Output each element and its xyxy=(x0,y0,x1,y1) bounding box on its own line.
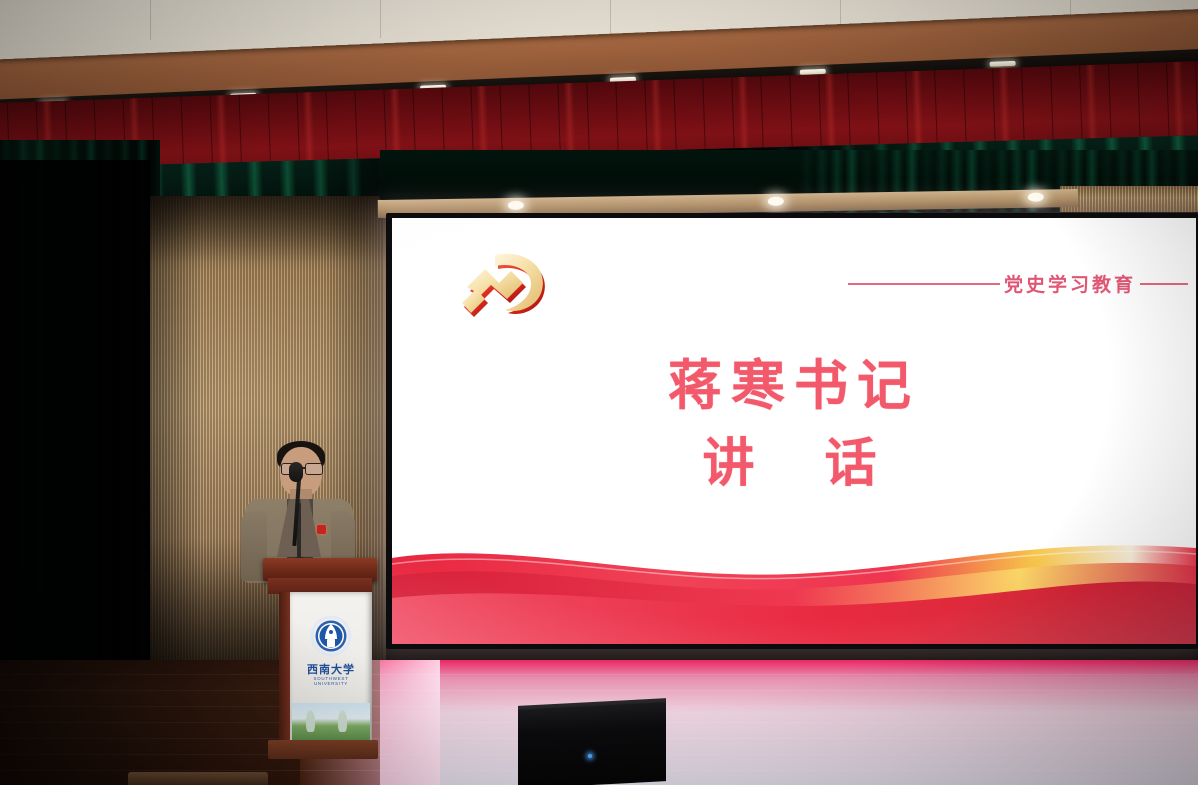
wall-slat xyxy=(1174,186,1176,212)
wall-slat xyxy=(1162,186,1164,212)
trim-spotlight xyxy=(1028,193,1044,202)
wall-slat xyxy=(1168,186,1170,212)
slide-header: 党史学习教育 xyxy=(848,270,1188,297)
wall-slat xyxy=(1126,186,1128,212)
wall-slat xyxy=(1093,186,1095,212)
slide-title-line-2: 讲 话 xyxy=(392,434,1196,495)
wall-slat xyxy=(1159,186,1161,212)
wall-slat xyxy=(1138,186,1140,212)
wall-slat xyxy=(1099,186,1101,212)
wall-slat xyxy=(1186,186,1188,212)
trim-spotlight xyxy=(508,201,524,210)
wall-slat xyxy=(1111,186,1113,212)
wall-slat xyxy=(1129,186,1131,212)
red-ribbon-wave xyxy=(392,514,1196,644)
wall-slat xyxy=(1195,186,1197,212)
wall-slat xyxy=(1081,186,1083,212)
track-lamp xyxy=(990,61,1016,67)
wall-slat xyxy=(1141,186,1143,212)
ceiling-seam xyxy=(150,0,151,40)
wall-slat xyxy=(1114,186,1116,212)
wall-slat xyxy=(1177,186,1179,212)
ceiling-seam xyxy=(380,0,381,38)
lectern-en-name: SOUTHWEST UNIVERSITY xyxy=(296,676,366,686)
wall-slat xyxy=(1123,186,1125,212)
floor-shadow-left xyxy=(0,660,300,785)
wall-slat xyxy=(1132,186,1134,212)
right-wood-trim xyxy=(1060,186,1198,212)
wall-slat xyxy=(1150,186,1152,212)
stage-shadow-area xyxy=(0,160,150,660)
header-rule-right xyxy=(1140,283,1188,285)
header-label: 党史学习教育 xyxy=(1000,270,1140,297)
wall-slat xyxy=(1192,186,1194,212)
wall-slat xyxy=(1102,186,1104,212)
wall-slat xyxy=(1108,186,1110,212)
wall-slat xyxy=(1171,186,1173,212)
foreground-table-edge xyxy=(128,772,268,785)
trim-spotlight xyxy=(768,197,784,206)
wall-slat xyxy=(1120,186,1122,212)
wall-slat xyxy=(1156,186,1158,212)
cpc-party-emblem xyxy=(454,247,562,325)
lectern-campus-photo xyxy=(292,703,370,740)
wall-slat xyxy=(1090,186,1092,212)
wall-slat xyxy=(1189,186,1191,212)
screen-surface: 党史学习教育 蒋寒书记 讲 话 xyxy=(392,218,1196,644)
southwest-university-logo xyxy=(305,615,357,661)
ceiling-seam xyxy=(610,0,611,36)
stage-floor-monitor-speaker xyxy=(518,702,666,785)
wall-slat xyxy=(1105,186,1107,212)
wall-slat xyxy=(1135,186,1137,212)
wall-slat xyxy=(1165,186,1167,212)
header-rule-left xyxy=(848,283,1000,285)
wall-slat xyxy=(1180,186,1182,212)
wall-slat xyxy=(1078,186,1080,212)
wall-slat xyxy=(1183,186,1185,212)
lectern-base xyxy=(268,740,378,759)
slide-title-block: 蒋寒书记 讲 话 xyxy=(392,354,1196,495)
wall-slat xyxy=(1087,186,1089,212)
slide-title-line-1: 蒋寒书记 xyxy=(392,354,1196,418)
party-lapel-pin xyxy=(317,525,326,534)
wall-slat xyxy=(1147,186,1149,212)
wall-slat xyxy=(1153,186,1155,212)
stage-photograph: 党史学习教育 蒋寒书记 讲 话 xyxy=(0,0,1198,785)
microphone-icon xyxy=(289,462,303,482)
led-display-screen: 党史学习教育 蒋寒书记 讲 话 xyxy=(386,213,1198,649)
wall-slat xyxy=(1117,186,1119,212)
monitor-power-led xyxy=(588,754,592,758)
wall-slat xyxy=(1084,186,1086,212)
wall-slat xyxy=(1144,186,1146,212)
lectern-cn-name: 西南大学 xyxy=(296,661,366,677)
wall-slat xyxy=(1096,186,1098,212)
